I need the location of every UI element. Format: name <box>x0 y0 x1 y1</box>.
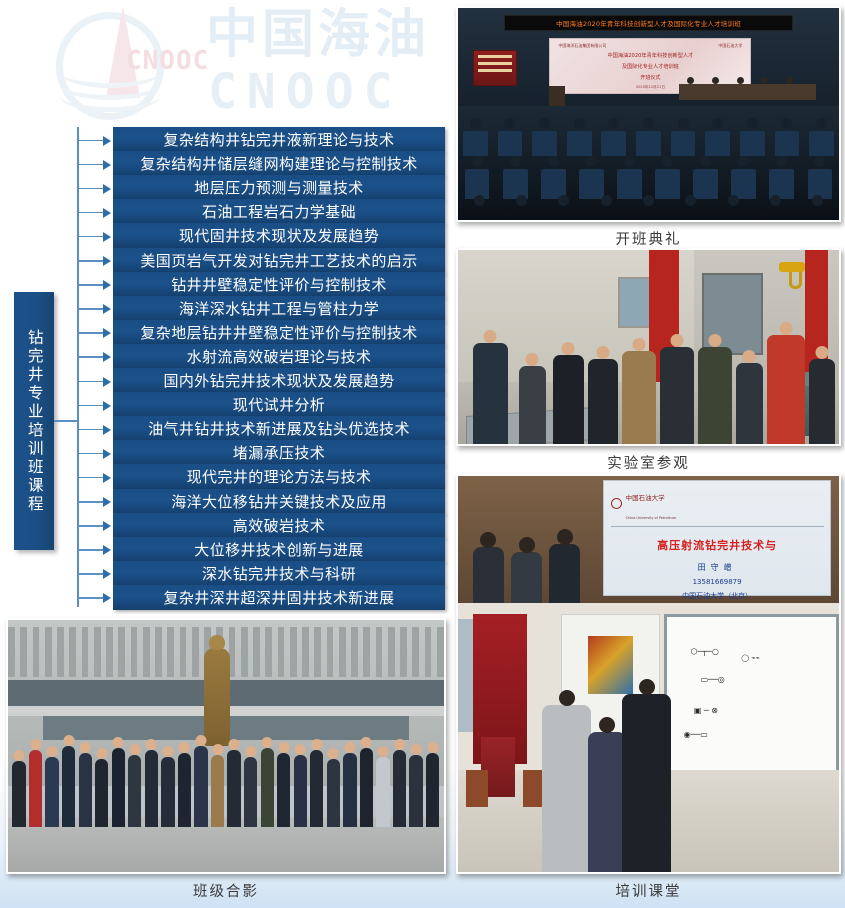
slide-university-name: 中国石油大学 <box>626 494 665 502</box>
row-connector-line <box>77 260 104 262</box>
logo-wave-3 <box>60 96 160 112</box>
row-connector-line <box>77 284 104 286</box>
course-item[interactable]: 高效破岩技术 <box>113 513 445 538</box>
slide-speaker-name: 田守嶒 <box>698 562 737 573</box>
course-item-label: 现代完井的理论方法与技术 <box>187 466 372 487</box>
row-arrow-icon <box>103 136 111 146</box>
row-arrow-icon <box>103 304 111 314</box>
row-connector-line <box>77 501 104 503</box>
side-poster <box>473 50 517 86</box>
course-item-label: 钻井井壁稳定性评价与控制技术 <box>171 274 387 295</box>
course-item[interactable]: 海洋大位移钻井关键技术及应用 <box>113 489 445 514</box>
head-table <box>679 84 816 100</box>
course-item-label: 国内外钻完井技术现状及发展趋势 <box>163 370 394 391</box>
lab-person <box>519 366 546 444</box>
row-arrow-icon <box>103 184 111 194</box>
logo-derrick-icon <box>106 6 140 98</box>
course-row: 现代完井的理论方法与技术 <box>77 464 445 490</box>
logo-wave-2 <box>60 84 160 100</box>
course-item[interactable]: 地层压力预测与测量技术 <box>113 175 445 200</box>
course-item-label: 深水钻完井技术与科研 <box>202 563 356 584</box>
course-item-label: 石油工程岩石力学基础 <box>202 201 356 222</box>
caption-ceremony: 开班典礼 <box>456 228 841 249</box>
photo-block-lab: 实验室参观 <box>456 248 841 473</box>
row-connector-line <box>77 405 104 407</box>
crane-hook-icon <box>779 262 805 272</box>
row-arrow-icon <box>103 352 111 362</box>
course-item-label: 海洋大位移钻井关键技术及应用 <box>171 491 387 512</box>
course-row: 复杂井深井超深井固井技术新进展 <box>77 585 445 611</box>
caption-training: 培训课堂 <box>456 880 841 901</box>
row-arrow-icon <box>103 208 111 218</box>
course-row: 堵漏承压技术 <box>77 440 445 466</box>
row-connector-line <box>77 236 104 238</box>
course-list-diagram: 钻完井专业培训班课程 复杂结构井钻完井液新理论与技术复杂结构井储层缝网构建理论与… <box>0 118 452 618</box>
course-item-label: 现代试井分析 <box>233 394 325 415</box>
course-item[interactable]: 国内外钻完井技术现状及发展趋势 <box>113 368 445 393</box>
course-row: 地层压力预测与测量技术 <box>77 175 445 201</box>
course-item[interactable]: 石油工程岩石力学基础 <box>113 199 445 224</box>
slide-speaker-phone: 13581669879 <box>693 578 742 586</box>
lab-person <box>553 355 583 444</box>
course-item[interactable]: 堵漏承压技术 <box>113 440 445 465</box>
row-connector-line <box>77 525 104 527</box>
course-item[interactable]: 现代固井技术现状及发展趋势 <box>113 223 445 248</box>
slide-title-line1: 中国海油2020年青年科技创新型人才 <box>607 53 693 61</box>
slide-header-left: 中国海洋石油集团有限公司 <box>558 43 606 49</box>
logo-ring <box>56 12 164 120</box>
lab-person <box>698 347 732 444</box>
cnooc-watermark-logo: CNOOC 中国海油 CNOOC <box>28 2 458 124</box>
audience-row-3 <box>458 195 839 206</box>
course-item-label: 水射流高效破岩理论与技术 <box>187 346 372 367</box>
course-item-label: 高效破岩技术 <box>233 515 325 536</box>
projection-screen-training: 中国石油大学 China University of Petroleum 高压射… <box>603 480 832 597</box>
row-connector-line <box>77 477 104 479</box>
row-arrow-icon <box>103 521 111 531</box>
photo-ceremony: 中国海油2020年青年科技创新型人才及国际化专业人才培训班 中国海洋石油集团有限… <box>456 6 841 222</box>
logo-wave-1 <box>60 72 160 88</box>
course-item-label: 复杂结构井储层缝网构建理论与控制技术 <box>140 153 417 174</box>
standing-person-grey-coat <box>542 705 592 872</box>
row-connector-line <box>77 308 104 310</box>
diagram-trunk-line <box>54 420 78 422</box>
course-item[interactable]: 大位移井技术创新与进展 <box>113 537 445 562</box>
course-row: 海洋大位移钻井关键技术及应用 <box>77 489 445 515</box>
course-item[interactable]: 现代完井的理论方法与技术 <box>113 464 445 489</box>
seated-attendee <box>473 547 503 603</box>
course-item-label: 现代固井技术现状及发展趋势 <box>179 225 379 246</box>
row-connector-line <box>77 212 104 214</box>
slide-university-name-en: China University of Petroleum <box>626 516 677 520</box>
led-banner-text: 中国海油2020年青年科技创新型人才及国际化专业人才培训班 <box>556 18 741 28</box>
slide-speaker-org: 中国石油大学（北京） <box>682 591 752 601</box>
row-arrow-icon <box>103 497 111 507</box>
seat-row-1 <box>458 131 839 156</box>
watermark-company-en: CNOOC <box>208 64 403 120</box>
row-arrow-icon <box>103 232 111 242</box>
course-item[interactable]: 海洋深水钻井工程与管柱力学 <box>113 296 445 321</box>
row-arrow-icon <box>103 401 111 411</box>
course-item[interactable]: 美国页岩气开发对钻完井工艺技术的启示 <box>113 248 445 273</box>
audience-row-2 <box>458 156 839 167</box>
row-connector-line <box>77 356 104 358</box>
caption-lab: 实验室参观 <box>456 452 841 473</box>
class-crowd <box>8 721 444 827</box>
row-arrow-icon <box>103 545 111 555</box>
course-item[interactable]: 复杂井深井超深井固井技术新进展 <box>113 585 445 610</box>
course-item[interactable]: 复杂结构井储层缝网构建理论与控制技术 <box>113 151 445 176</box>
row-connector-line <box>77 381 104 383</box>
course-item[interactable]: 水射流高效破岩理论与技术 <box>113 344 445 369</box>
logo-mark-text: CNOOC <box>126 46 209 76</box>
course-row: 复杂结构井储层缝网构建理论与控制技术 <box>77 151 445 177</box>
row-connector-line <box>77 429 104 431</box>
course-item-label: 堵漏承压技术 <box>233 442 325 463</box>
photo-block-class: 班级合影 <box>6 618 446 901</box>
lab-person <box>736 363 763 444</box>
course-row: 海洋深水钻井工程与管柱力学 <box>77 296 445 322</box>
row-connector-line <box>77 332 104 334</box>
audience-row-1 <box>458 118 839 129</box>
slide-title-line2: 及国际化专业人才培训班 <box>622 64 679 72</box>
slide-university-header: 中国石油大学 China University of Petroleum <box>611 485 824 527</box>
course-item-label: 美国页岩气开发对钻完井工艺技术的启示 <box>140 250 417 271</box>
lab-person-guide <box>473 343 507 444</box>
row-connector-line <box>77 549 104 551</box>
slide-date: 2020年12月21日 <box>636 85 665 90</box>
row-connector-line <box>77 140 104 142</box>
photo-lab-visit <box>456 248 841 446</box>
photo-block-training: 中国石油大学 China University of Petroleum 高压射… <box>456 474 841 901</box>
course-item-label: 油气井钻井技术新进展及钻头优选技术 <box>148 418 410 439</box>
lab-person <box>622 351 656 444</box>
course-item[interactable]: 现代试井分析 <box>113 392 445 417</box>
course-row: 石油工程岩石力学基础 <box>77 199 445 225</box>
diagram-root-label: 钻完井专业培训班课程 <box>26 329 42 514</box>
diagram-root-node: 钻完井专业培训班课程 <box>14 292 54 550</box>
course-row: 复杂结构井钻完井液新理论与技术 <box>77 127 445 153</box>
course-item[interactable]: 深水钻完井技术与科研 <box>113 561 445 586</box>
photo-training-classroom: 中国石油大学 China University of Petroleum 高压射… <box>456 474 841 874</box>
course-row: 国内外钻完井技术现状及发展趋势 <box>77 368 445 394</box>
slide-subtitle: 开班仪式 <box>640 74 660 81</box>
lab-person <box>660 347 694 444</box>
course-row: 钻井井壁稳定性评价与控制技术 <box>77 272 445 298</box>
course-row: 深水钻完井技术与科研 <box>77 561 445 587</box>
slide-training-title: 高压射流钻完井技术与 <box>657 537 777 553</box>
led-banner: 中国海油2020年青年科技创新型人才及国际化专业人才培训班 <box>504 15 794 31</box>
row-arrow-icon <box>103 473 111 483</box>
row-connector-line <box>77 453 104 455</box>
watermark-company-cn: 中国海油 <box>206 8 430 63</box>
course-item-label: 地层压力预测与测量技术 <box>194 177 363 198</box>
whiteboard: ⬡─┬─○ ▭──◎ ▣ ─ ⊗ ◯ ⌁⌁ ◉──▭ <box>664 614 839 792</box>
course-row: 复杂地层钻井井壁稳定性评价与控制技术 <box>77 320 445 346</box>
row-arrow-icon <box>103 425 111 435</box>
course-item[interactable]: 复杂地层钻井井壁稳定性评价与控制技术 <box>113 320 445 345</box>
slide-header-right: 中国石油大学 <box>718 43 742 49</box>
course-row: 高效破岩技术 <box>77 513 445 539</box>
course-item-label: 大位移井技术创新与进展 <box>194 539 363 560</box>
course-row: 现代固井技术现状及发展趋势 <box>77 223 445 249</box>
university-seal-icon <box>611 498 622 509</box>
row-connector-line <box>77 597 104 599</box>
podium <box>549 86 565 106</box>
course-row: 美国页岩气开发对钻完井工艺技术的启示 <box>77 248 445 274</box>
lecture-room-upper: 中国石油大学 China University of Petroleum 高压射… <box>458 476 839 603</box>
row-arrow-icon <box>103 328 111 338</box>
lab-person <box>809 359 836 444</box>
photo-block-ceremony: 中国海油2020年青年科技创新型人才及国际化专业人才培训班 中国海洋石油集团有限… <box>456 6 841 249</box>
row-arrow-icon <box>103 449 111 459</box>
row-arrow-icon <box>103 160 111 170</box>
row-connector-line <box>77 573 104 575</box>
seated-attendee <box>549 544 579 602</box>
course-item[interactable]: 油气井钻井技术新进展及钻头优选技术 <box>113 416 445 441</box>
caption-class: 班级合影 <box>6 880 446 901</box>
standing-person-writing <box>622 694 672 872</box>
row-arrow-icon <box>103 569 111 579</box>
standing-person <box>588 732 626 872</box>
course-row: 水射流高效破岩理论与技术 <box>77 344 445 370</box>
row-arrow-icon <box>103 256 111 266</box>
classroom-chair <box>466 770 489 808</box>
row-arrow-icon <box>103 593 111 603</box>
course-row: 现代试井分析 <box>77 392 445 418</box>
row-connector-line <box>77 188 104 190</box>
course-row: 油气井钻井技术新进展及钻头优选技术 <box>77 416 445 442</box>
row-arrow-icon <box>103 377 111 387</box>
slide-header-row: 中国海洋石油集团有限公司 中国石油大学 <box>558 42 742 50</box>
course-item[interactable]: 钻井井壁稳定性评价与控制技术 <box>113 272 445 297</box>
seated-attendee <box>511 552 541 603</box>
photo-class-group <box>6 618 446 874</box>
classroom-lower: ⬡─┬─○ ▭──◎ ▣ ─ ⊗ ◯ ⌁⌁ ◉──▭ <box>458 603 839 872</box>
course-item-label: 复杂地层钻井井壁稳定性评价与控制技术 <box>140 322 417 343</box>
row-connector-line <box>77 164 104 166</box>
course-item-label: 海洋深水钻井工程与管柱力学 <box>179 298 379 319</box>
course-item-label: 复杂结构井钻完井液新理论与技术 <box>163 129 394 150</box>
row-arrow-icon <box>103 280 111 290</box>
course-item-label: 复杂井深井超深井固井技术新进展 <box>163 587 394 608</box>
lab-person-red-jacket <box>767 335 805 444</box>
course-item[interactable]: 复杂结构井钻完井液新理论与技术 <box>113 127 445 152</box>
lab-person <box>588 359 618 444</box>
course-row: 大位移井技术创新与进展 <box>77 537 445 563</box>
